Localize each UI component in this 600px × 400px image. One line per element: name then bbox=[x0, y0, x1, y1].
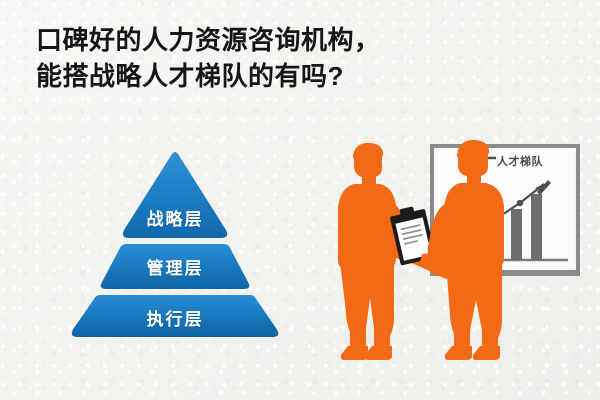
pyramid-label-management: 管理层 bbox=[40, 254, 310, 279]
page-title-line-1: 口碑好的人力资源咨询机构， bbox=[36, 22, 466, 58]
talent-pyramid-diagram: 战略层 管理层 执行层 bbox=[40, 148, 310, 343]
page-title-line-2: 能搭战略人才梯队的有吗? bbox=[36, 58, 466, 94]
page-title: 口碑好的人力资源咨询机构， 能搭战略人才梯队的有吗? bbox=[36, 22, 466, 94]
chart-legend-label: 人才梯队 bbox=[497, 153, 543, 169]
banner-canvas: 口碑好的人力资源咨询机构， 能搭战略人才梯队的有吗? bbox=[0, 0, 600, 400]
pyramid-label-execution: 执行层 bbox=[40, 305, 310, 330]
chart-bar bbox=[531, 194, 542, 260]
handshake-illustration bbox=[318, 132, 588, 382]
chart-bar bbox=[511, 209, 522, 260]
illustration-svg bbox=[318, 132, 588, 382]
pyramid-label-strategy: 战略层 bbox=[40, 205, 310, 230]
